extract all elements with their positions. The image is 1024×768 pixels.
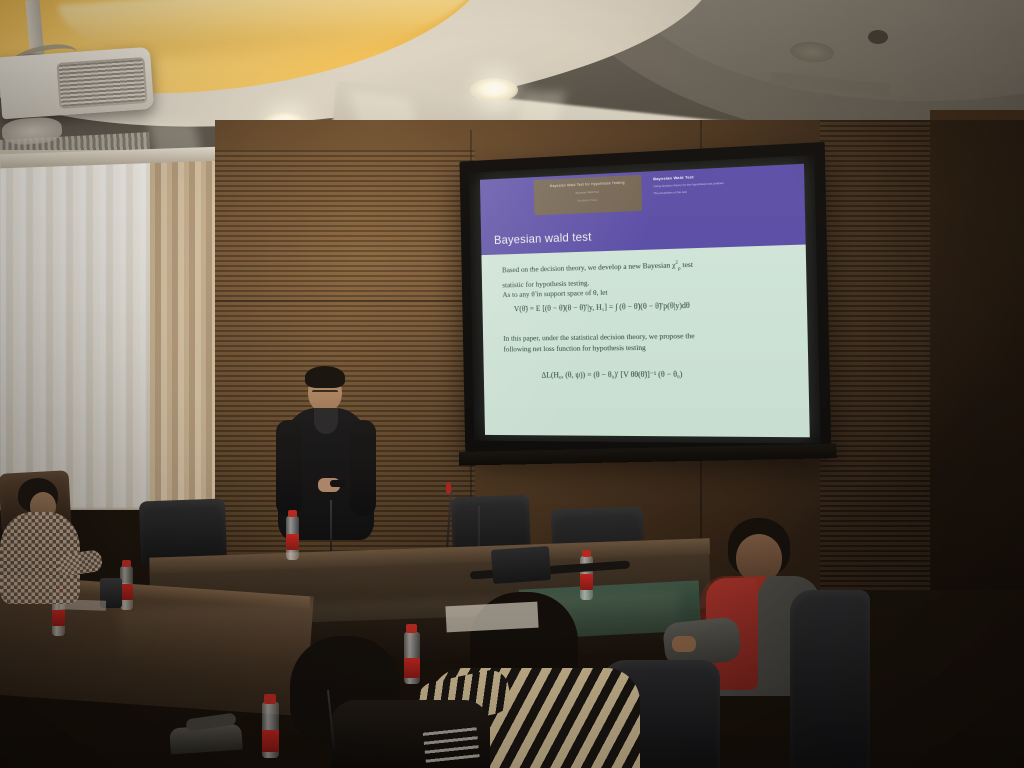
presenter-hair <box>305 366 345 388</box>
glasses-icon <box>312 390 338 398</box>
slide-body: Based on the decision theory, we develop… <box>481 244 809 437</box>
water-bottle-5-cap <box>406 624 417 633</box>
attendee-red-jacket-head <box>736 534 782 582</box>
water-bottle-1-label <box>286 534 299 550</box>
water-bottle-6-cap <box>264 694 276 704</box>
slide-paragraph-2b: following net loss function for hypothes… <box>503 342 645 353</box>
microphone-head-2 <box>446 482 451 494</box>
water-bottle-5-label <box>404 658 420 678</box>
attendee-red-jacket-hand <box>672 636 696 652</box>
slide-paragraph-1-lead: Based on the decision theory, we develop… <box>502 261 670 275</box>
slide-paragraph-1c: As to any θ̃ in support space of θ, let <box>502 288 607 299</box>
chair-right[interactable] <box>790 590 870 768</box>
slide-formula-2: ΔL(H₀, (θ, ψ)) = (θ − θ₀)′ [V θθ(θ̃)]⁻¹ … <box>541 369 779 379</box>
water-bottle-1-cap <box>288 510 297 517</box>
water-bottle-3-cap <box>122 560 131 567</box>
smoke-detector-icon <box>868 30 888 44</box>
presenter-vneck <box>314 408 338 434</box>
presenter-arm-right <box>350 420 376 516</box>
laptop[interactable] <box>491 546 551 584</box>
attendee-houndstooth-arm <box>57 549 104 577</box>
slide-formula-1: V(θ̃) = E [(θ − θ̃)(θ − θ̃)′|y, H₁] = ∫ … <box>514 299 790 314</box>
screen-surface: Bayesian Wald Test for Hypothesis Testin… <box>469 155 821 444</box>
slide-paragraph-2a: In this paper, under the statistical dec… <box>503 331 694 343</box>
slide-paragraph-1-tail: test <box>682 260 693 269</box>
water-bottle-6-label <box>262 730 279 752</box>
water-bottle-2-cap <box>582 550 591 557</box>
attendee-dark-top-print <box>422 723 479 762</box>
chair-back-2-seam <box>478 506 480 552</box>
projector-vent <box>57 57 148 109</box>
slide: Bayesian Wald Test for Hypothesis Testin… <box>480 164 810 438</box>
water-bottle-4-label <box>52 610 65 626</box>
slide-paragraph-2: In this paper, under the statistical dec… <box>503 330 799 355</box>
downlight-2 <box>470 78 518 102</box>
chi-superscript: 2 <box>675 261 678 266</box>
conference-room-scene: Bayesian Wald Test for Hypothesis Testin… <box>0 0 1024 768</box>
slide-paragraph-1: Based on the decision theory, we develop… <box>502 255 798 300</box>
chi-subscript: p <box>678 267 681 272</box>
microphone-stem-1 <box>330 500 332 558</box>
clicker-icon <box>330 480 346 487</box>
presenter-arm-left <box>276 420 302 516</box>
projection-screen[interactable]: Bayesian Wald Test for Hypothesis Testin… <box>460 142 832 456</box>
water-bottle-2-label <box>580 574 593 590</box>
paper-sheet-foreground <box>445 602 538 633</box>
slide-paragraph-1b: statistic for hypothesis testing. <box>502 278 589 289</box>
